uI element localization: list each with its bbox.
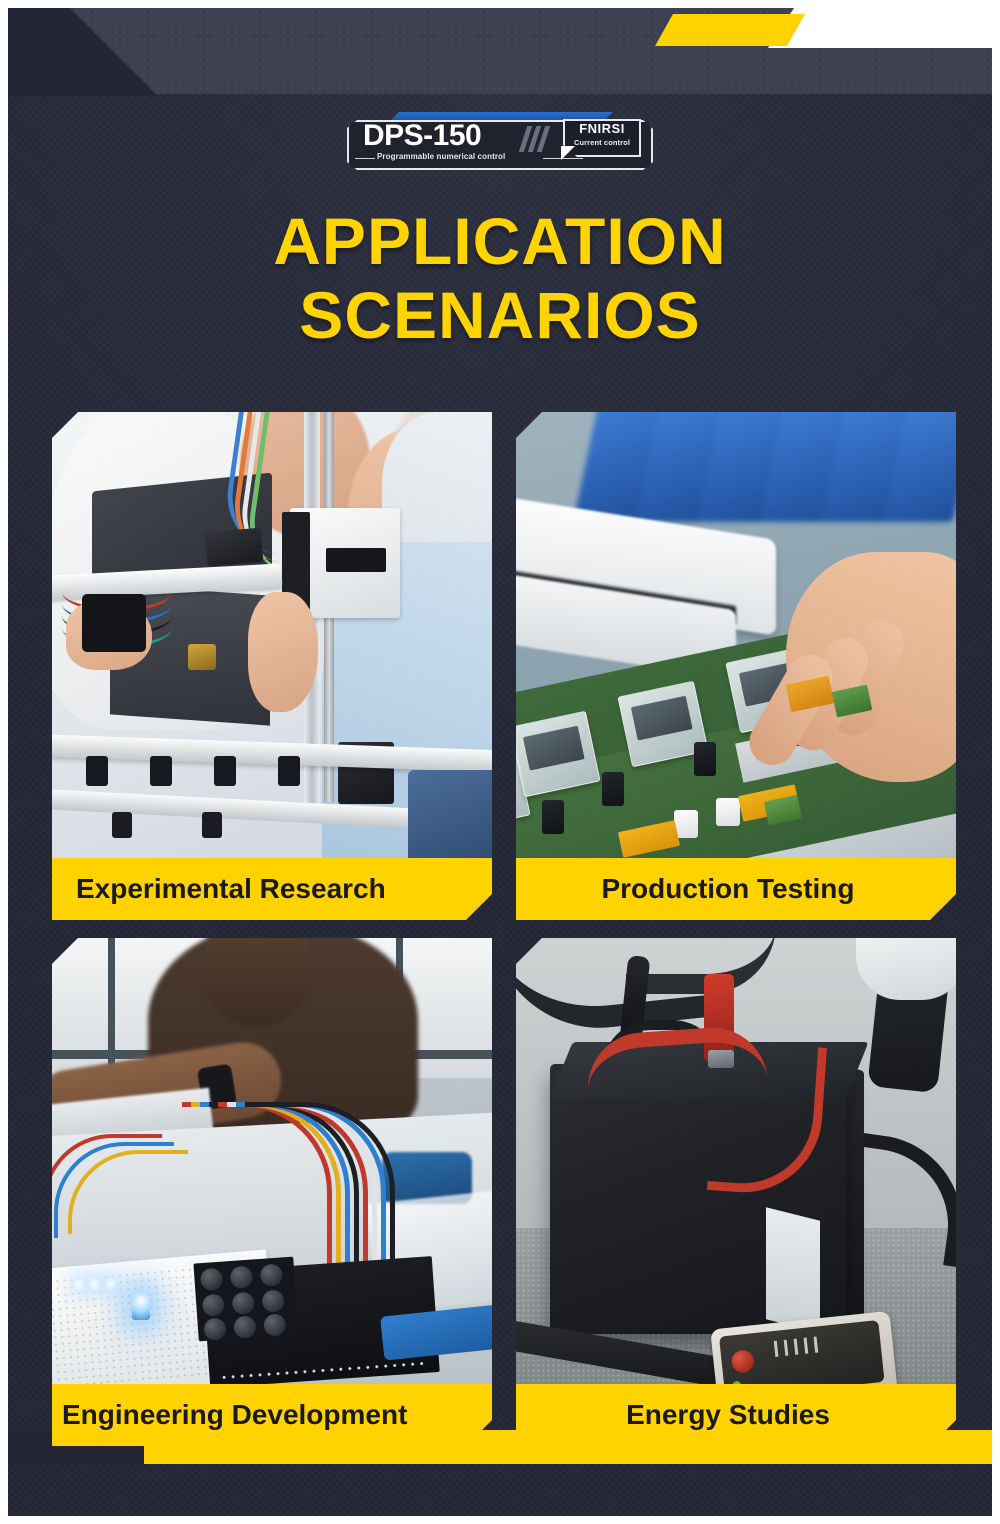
scenario-caption-energy-studies: Energy Studies <box>516 1384 956 1446</box>
poster-canvas: DPS-150 Programmable numerical control F… <box>8 8 992 1516</box>
product-badge: DPS-150 Programmable numerical control F… <box>347 112 653 174</box>
badge-brand-name: FNIRSI <box>569 122 635 135</box>
scenario-grid: Experimental Research <box>52 412 956 1446</box>
scenario-caption-label: Energy Studies <box>516 1400 956 1430</box>
badge-slash-icon <box>523 126 557 152</box>
scenario-card-engineering-development[interactable]: Engineering Development <box>52 938 492 1446</box>
badge-rule-right <box>543 158 583 159</box>
scenario-caption-production-testing: Production Testing <box>516 858 956 920</box>
scenario-photo-energy-studies <box>516 938 956 1388</box>
bottom-dark-bar <box>8 1464 992 1516</box>
badge-brand-subtitle: Current control <box>567 138 637 147</box>
badge-model-name: DPS-150 <box>363 121 481 151</box>
scenario-caption-label: Production Testing <box>516 874 956 904</box>
scenario-card-energy-studies[interactable]: Energy Studies <box>516 938 956 1446</box>
page-title-line-2: SCENARIOS <box>8 278 992 352</box>
scenario-photo-engineering-development <box>52 938 492 1388</box>
page-title-line-1: APPLICATION <box>8 204 992 278</box>
poster-page: DPS-150 Programmable numerical control F… <box>0 0 1000 1524</box>
photo-scene <box>52 938 492 1388</box>
photo-scene <box>516 938 956 1388</box>
photo-scene <box>52 412 492 862</box>
badge-subtitle: Programmable numerical control <box>377 152 505 161</box>
scenario-caption-label: Experimental Research <box>52 874 492 904</box>
scenario-card-experimental-research[interactable]: Experimental Research <box>52 412 492 920</box>
photo-scene <box>516 412 956 862</box>
scenario-caption-experimental-research: Experimental Research <box>52 858 492 920</box>
scenario-photo-experimental-research <box>52 412 492 862</box>
scenario-caption-engineering-development: Engineering Development <box>52 1384 492 1446</box>
poster-header: DPS-150 Programmable numerical control F… <box>8 8 992 352</box>
bottom-bar-texture <box>8 1464 992 1516</box>
badge-rule-left <box>355 158 375 159</box>
scenario-card-production-testing[interactable]: Production Testing <box>516 412 956 920</box>
scenario-photo-production-testing <box>516 412 956 862</box>
page-title: APPLICATION SCENARIOS <box>8 204 992 352</box>
scenario-caption-label: Engineering Development <box>52 1400 492 1430</box>
